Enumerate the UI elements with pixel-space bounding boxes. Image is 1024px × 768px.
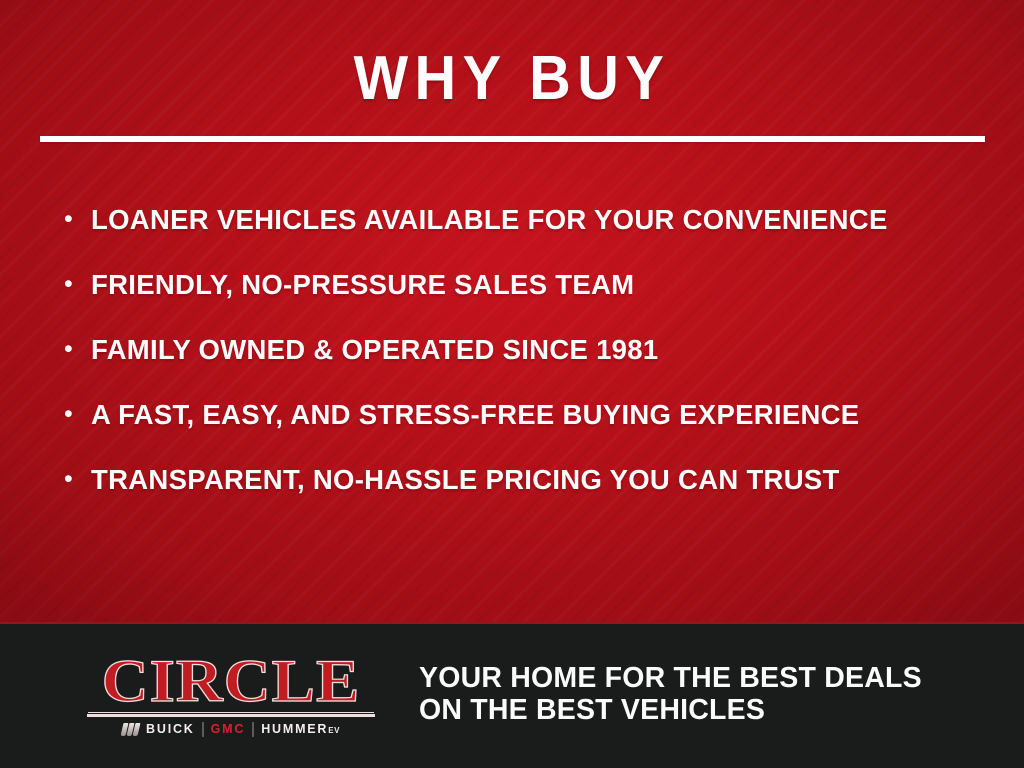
footer-tagline-line1: YOUR HOME FOR THE BEST DEALS [419, 663, 922, 695]
list-item-label: LOANER VEHICLES AVAILABLE FOR YOUR CONVE… [91, 204, 888, 236]
why-buy-slide: WHY BUY • LOANER VEHICLES AVAILABLE FOR … [0, 0, 1024, 768]
footer-top-accent-line [0, 622, 1024, 624]
brand-label-gmc: GMC [211, 723, 246, 736]
bullet-dot-icon: • [64, 337, 91, 362]
brand-strip: BUICK GMC HUMMEREV [86, 722, 376, 738]
title-underline-rule [40, 136, 985, 142]
list-item: • A FAST, EASY, AND STRESS-FREE BUYING E… [64, 399, 1024, 464]
bullet-dot-icon: • [64, 467, 91, 492]
main-red-panel: WHY BUY • LOANER VEHICLES AVAILABLE FOR … [0, 0, 1024, 622]
footer-tagline-line2: ON THE BEST VEHICLES [419, 695, 922, 727]
brand-label-hummer-text: HUMMER [261, 722, 328, 736]
list-item-label: FRIENDLY, NO-PRESSURE SALES TEAM [91, 269, 634, 301]
brand-label-hummer: HUMMEREV [261, 723, 340, 736]
list-item-label: TRANSPARENT, NO-HASSLE PRICING YOU CAN T… [91, 464, 840, 496]
bullet-dot-icon: • [64, 272, 91, 297]
brand-separator-icon [202, 722, 204, 737]
footer-tagline: YOUR HOME FOR THE BEST DEALS ON THE BEST… [419, 663, 922, 727]
list-item: • FAMILY OWNED & OPERATED SINCE 1981 [64, 334, 1024, 399]
brand-label-buick: BUICK [146, 723, 195, 736]
dealer-logo: CIRCLE BUICK GMC HUMMEREV [86, 653, 376, 738]
benefits-list: • LOANER VEHICLES AVAILABLE FOR YOUR CON… [0, 204, 1024, 529]
bullet-dot-icon: • [64, 207, 91, 232]
logo-divider-line [87, 714, 375, 717]
list-item: • TRANSPARENT, NO-HASSLE PRICING YOU CAN… [64, 464, 1024, 529]
footer-bar: CIRCLE BUICK GMC HUMMEREV YOUR HOME FOR … [0, 622, 1024, 768]
bullet-dot-icon: • [64, 402, 91, 427]
list-item: • FRIENDLY, NO-PRESSURE SALES TEAM [64, 269, 1024, 334]
list-item-label: A FAST, EASY, AND STRESS-FREE BUYING EXP… [91, 399, 859, 431]
buick-trishield-icon [122, 723, 139, 736]
brand-separator-icon [252, 722, 254, 737]
list-item-label: FAMILY OWNED & OPERATED SINCE 1981 [91, 334, 658, 366]
slide-content: WHY BUY • LOANER VEHICLES AVAILABLE FOR … [0, 0, 1024, 529]
logo-wordmark: CIRCLE [74, 653, 387, 710]
brand-label-hummer-ev: EV [328, 726, 340, 735]
list-item: • LOANER VEHICLES AVAILABLE FOR YOUR CON… [64, 204, 1024, 269]
page-title: WHY BUY [36, 0, 988, 110]
